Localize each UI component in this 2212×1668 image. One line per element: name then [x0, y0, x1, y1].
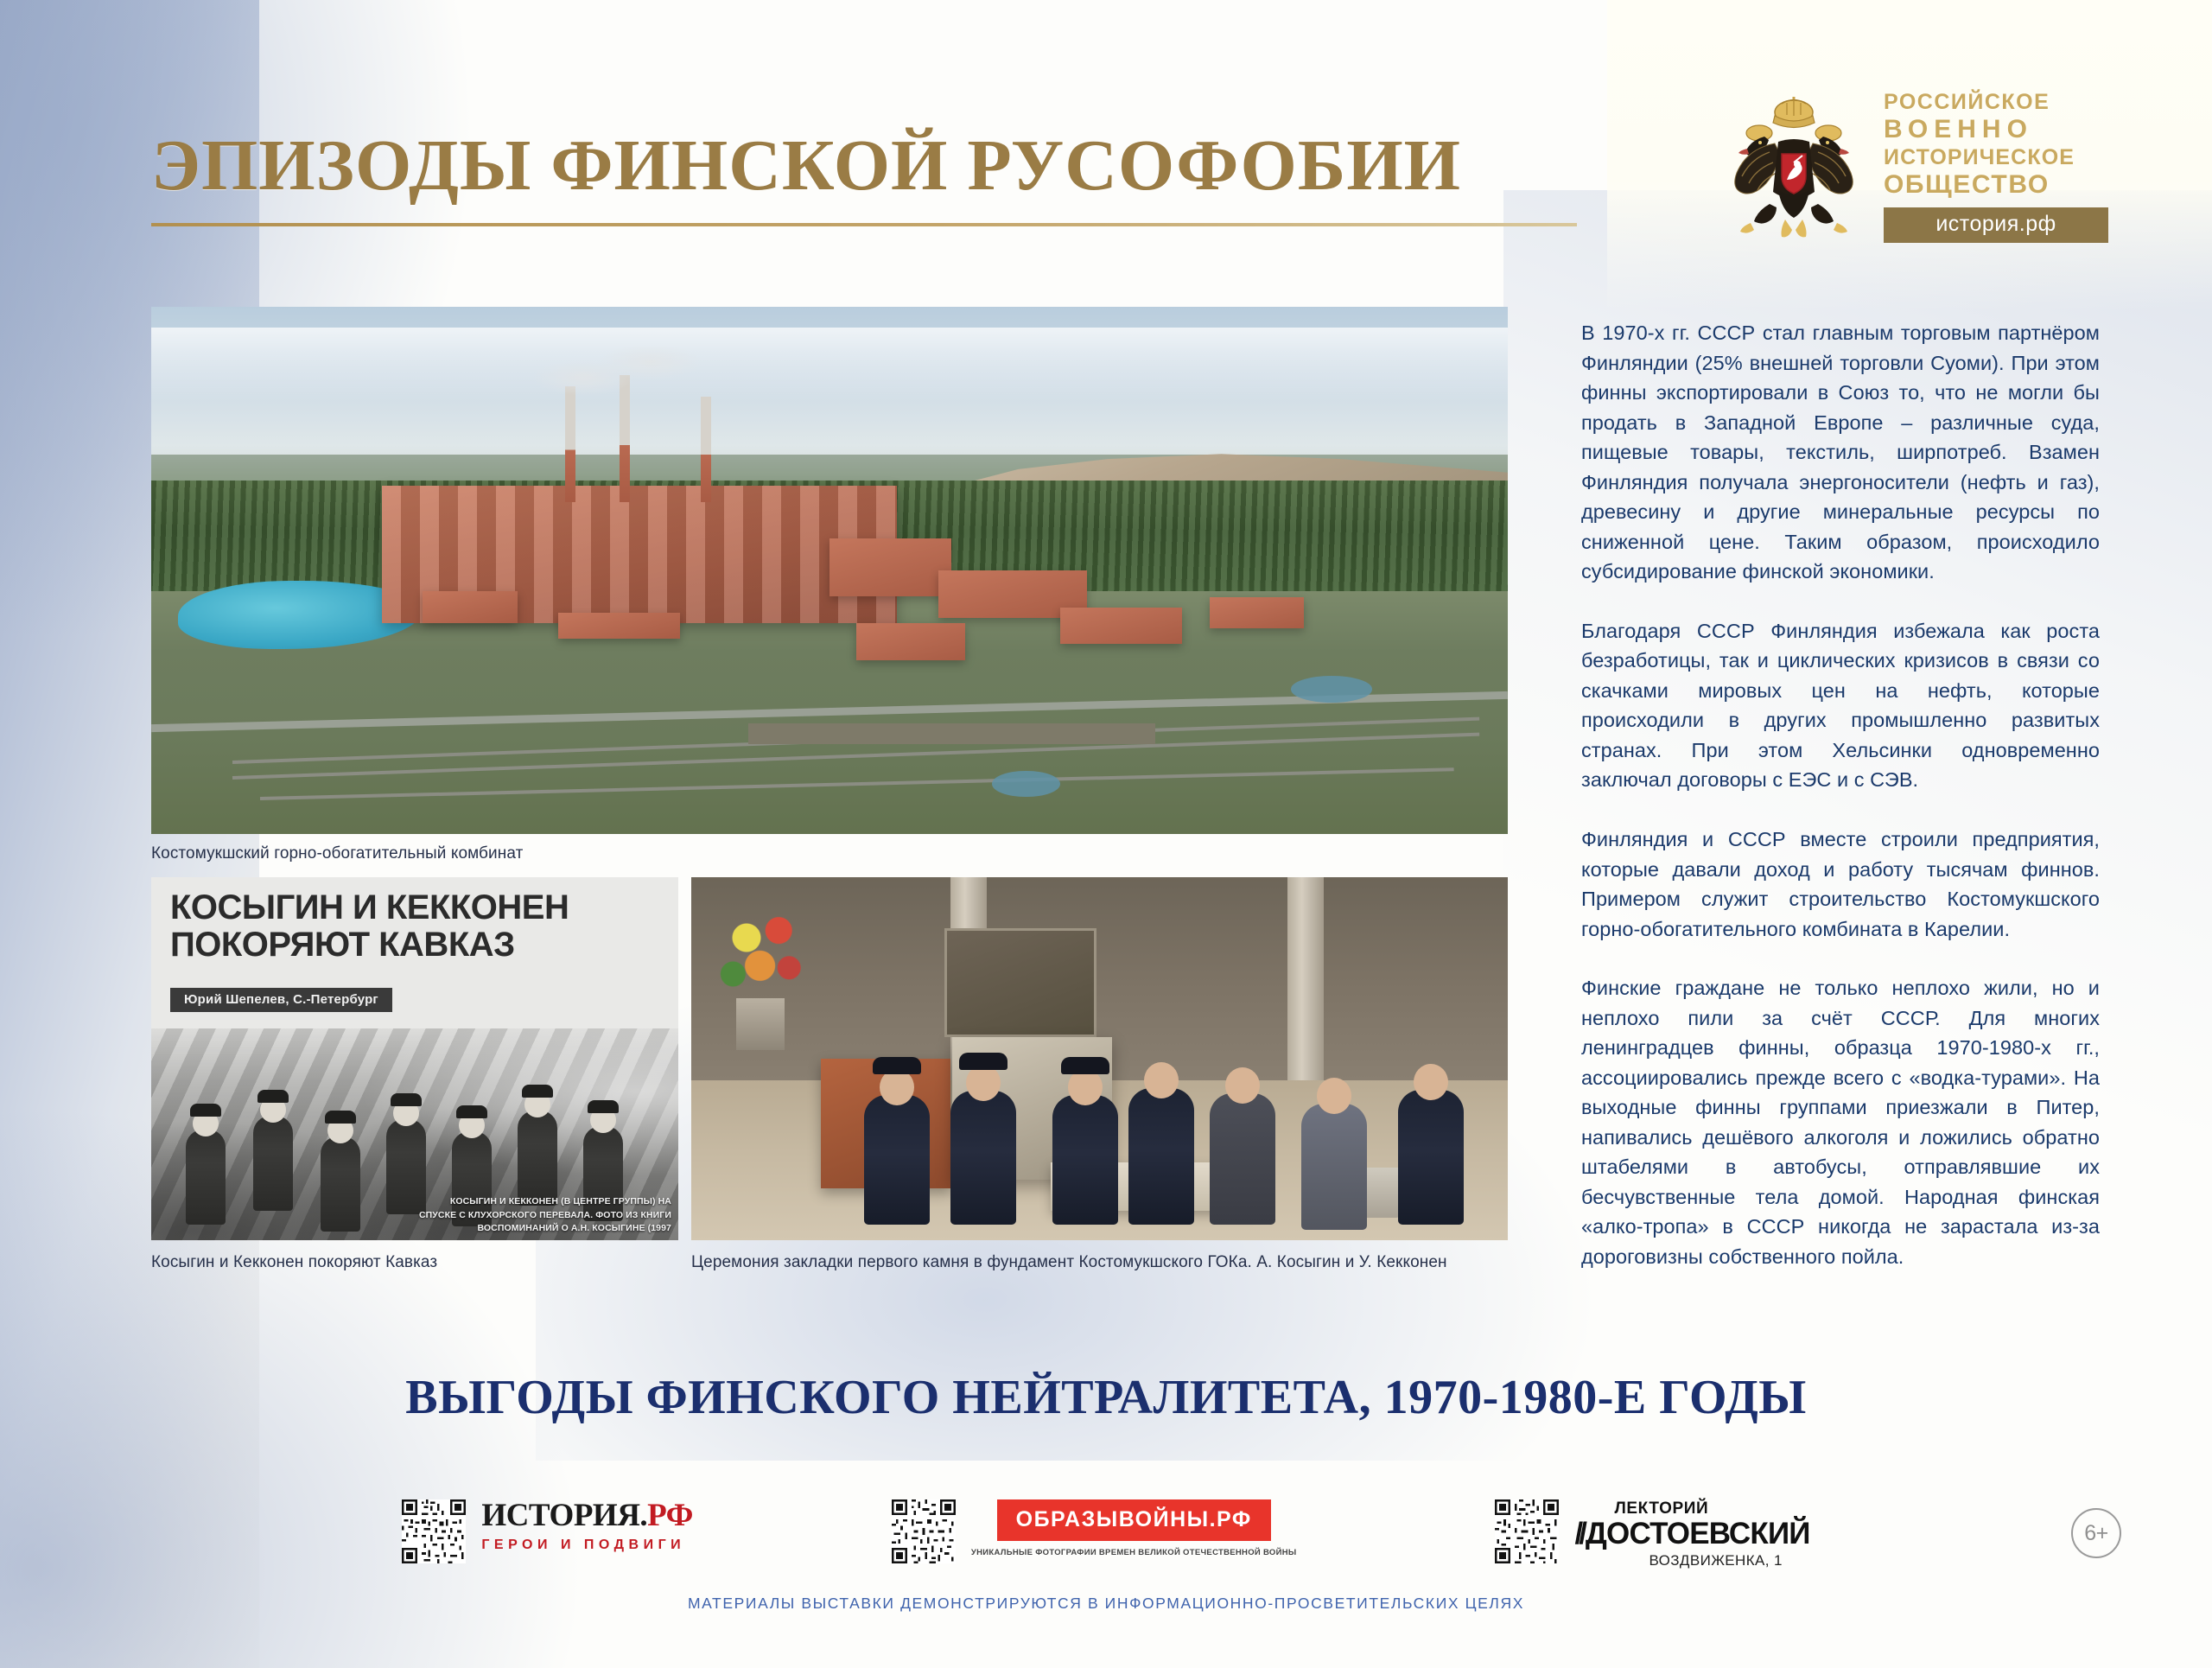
- rvio-line-2: ВОЕННО: [1884, 116, 2108, 143]
- plant-building-8: [558, 613, 680, 640]
- photo-ceremony: [691, 877, 1508, 1240]
- figure-2: [253, 1116, 293, 1211]
- figure-3: [321, 1136, 360, 1232]
- qr-code-icon[interactable]: [1495, 1499, 1559, 1563]
- photo-newspaper-clipping: КОСЫГИН И КЕККОНЕН ПОКОРЯЮТ КАВКАЗ Юрий …: [151, 877, 678, 1240]
- istoria-main-black: ИСТОРИЯ.: [481, 1498, 647, 1533]
- memorial-plaque: [944, 928, 1096, 1037]
- istoria-logo-text: ИСТОРИЯ.РФ ГЕРОИ И ПОДВИГИ: [481, 1499, 693, 1553]
- plant-building-2: [829, 538, 951, 596]
- photo-kostomuksha-combine: [151, 307, 1508, 834]
- newspaper-headline-line-1: КОСЫГИН И КЕККОНЕН: [170, 889, 654, 926]
- newspaper-photo: КОСЫГИН И КЕККОНЕН (В ЦЕНТРЕ ГРУППЫ) НА …: [151, 1028, 678, 1240]
- newspaper-headline: КОСЫГИН И КЕККОНЕН ПОКОРЯЮТ КАВКАЗ: [170, 889, 654, 964]
- article-paragraph-4: Финские граждане не только неплохо жили,…: [1581, 973, 2100, 1271]
- dostoevsky-logo-top: ЛЕКТОРИЙ: [1614, 1499, 1708, 1518]
- poster-footer: ИСТОРИЯ.РФ ГЕРОИ И ПОДВИГИ: [0, 1499, 2212, 1638]
- article-paragraph-2: Благодаря СССР Финляндия избежала как ро…: [1581, 616, 2100, 795]
- istoria-logo-main: ИСТОРИЯ.РФ: [481, 1499, 693, 1531]
- newspaper-byline: Юрий Шепелев, С.-Петербург: [170, 988, 392, 1012]
- official-figure-4: [1128, 1088, 1194, 1225]
- official-figure-3: [1052, 1095, 1118, 1225]
- double-headed-eagle-icon: [1725, 93, 1863, 240]
- figure-6: [518, 1111, 557, 1206]
- title-divider: [151, 223, 1577, 226]
- newspaper-inner-caption: КОСЫГИН И КЕККОНЕН (В ЦЕНТРЕ ГРУППЫ) НА …: [412, 1195, 671, 1235]
- settling-pond-2: [1291, 676, 1372, 703]
- article-paragraph-3: Финляндия и СССР вместе строили предприя…: [1581, 824, 2100, 944]
- dostoevsky-slash: //: [1574, 1517, 1582, 1550]
- official-figure-2: [950, 1091, 1016, 1225]
- dostoevsky-name: ДОСТОЕВСКИЙ: [1586, 1517, 1810, 1550]
- plant-building-7: [423, 591, 518, 623]
- official-figure-6: [1301, 1104, 1367, 1230]
- official-figure-5: [1210, 1093, 1275, 1225]
- column-2: [1287, 877, 1324, 1102]
- age-rating-badge: 6+: [2071, 1508, 2121, 1558]
- rail-yard: [748, 723, 1155, 744]
- caption-newspaper: Косыгин и Кекконен покоряют Кавказ: [151, 1253, 437, 1272]
- footer-logo-row: ИСТОРИЯ.РФ ГЕРОИ И ПОДВИГИ: [0, 1499, 2212, 1569]
- dostoevsky-logo-sub: ВОЗДВИЖЕНКА, 1: [1649, 1552, 1782, 1569]
- plant-building-5: [1060, 608, 1182, 645]
- rvio-line-3: ИСТОРИЧЕСКОЕ: [1884, 146, 2108, 169]
- qr-code-icon[interactable]: [892, 1499, 956, 1563]
- qr-code-icon[interactable]: [402, 1499, 466, 1563]
- flower-vase: [736, 998, 785, 1050]
- dostoevsky-logo-main: //ДОСТОЕВСКИЙ: [1574, 1518, 1809, 1550]
- article-paragraph-1: В 1970-х гг. СССР стал главным торговым …: [1581, 318, 2100, 587]
- rvio-line-1: РОССИЙСКОЕ: [1884, 91, 2108, 113]
- istoria-main-red: РФ: [647, 1498, 693, 1533]
- rvio-logo: РОССИЙСКОЕ ВОЕННО ИСТОРИЧЕСКОЕ ОБЩЕСТВО …: [1725, 91, 2108, 243]
- logo-istoria-rf[interactable]: ИСТОРИЯ.РФ ГЕРОИ И ПОДВИГИ: [402, 1499, 693, 1569]
- smokestack-2: [620, 375, 630, 501]
- smokestack-1: [565, 386, 575, 502]
- obrazyvoyny-logo-text: ОБРАЗЫВОЙНЫ.РФ УНИКАЛЬНЫЕ ФОТОГРАФИИ ВРЕ…: [971, 1499, 1297, 1557]
- bottom-headline: ВЫГОДЫ ФИНСКОГО НЕЙТРАЛИТЕТА, 1970-1980-…: [0, 1370, 2212, 1425]
- plant-building-6: [1210, 597, 1305, 629]
- article-text-column: В 1970-х гг. СССР стал главным торговым …: [1581, 318, 2100, 1271]
- istoria-logo-sub: ГЕРОИ И ПОДВИГИ: [481, 1537, 693, 1553]
- caption-kostomuksha: Костомукшский горно-обогатительный комби…: [151, 844, 523, 863]
- plant-building-4: [856, 623, 965, 660]
- smoke-plume-2: [599, 344, 702, 380]
- logo-dostoevsky-lectorium[interactable]: ЛЕКТОРИЙ //ДОСТОЕВСКИЙ ВОЗДВИЖЕНКА, 1: [1495, 1499, 1809, 1569]
- caption-ceremony: Церемония закладки первого камня в фунда…: [691, 1253, 1447, 1272]
- settling-pond: [992, 771, 1060, 798]
- flower-bouquet: [710, 901, 814, 1005]
- cloud-band: [151, 328, 1508, 401]
- obrazyvoyny-logo-sub: УНИКАЛЬНЫЕ ФОТОГРАФИИ ВРЕМЕН ВЕЛИКОЙ ОТЕ…: [971, 1548, 1297, 1557]
- dostoevsky-logo-text: ЛЕКТОРИЙ //ДОСТОЕВСКИЙ ВОЗДВИЖЕНКА, 1: [1574, 1499, 1809, 1569]
- rvio-logo-text: РОССИЙСКОЕ ВОЕННО ИСТОРИЧЕСКОЕ ОБЩЕСТВО …: [1884, 91, 2108, 243]
- newspaper-headline-line-2: ПОКОРЯЮТ КАВКАЗ: [170, 926, 654, 964]
- official-figure-1: [864, 1095, 930, 1225]
- rvio-site-badge[interactable]: история.рф: [1884, 207, 2108, 243]
- logo-obrazyvoyny-rf[interactable]: ОБРАЗЫВОЙНЫ.РФ УНИКАЛЬНЫЕ ФОТОГРАФИИ ВРЕ…: [892, 1499, 1297, 1569]
- official-figure-7: [1398, 1090, 1464, 1225]
- figure-1: [186, 1130, 226, 1225]
- exhibition-disclaimer: МАТЕРИАЛЫ ВЫСТАВКИ ДЕМОНСТРИРУЮТСЯ В ИНФ…: [0, 1595, 2212, 1613]
- obrazyvoyny-logo-box: ОБРАЗЫВОЙНЫ.РФ: [997, 1499, 1271, 1541]
- smokestack-3: [701, 397, 711, 502]
- rvio-line-4: ОБЩЕСТВО: [1884, 171, 2108, 199]
